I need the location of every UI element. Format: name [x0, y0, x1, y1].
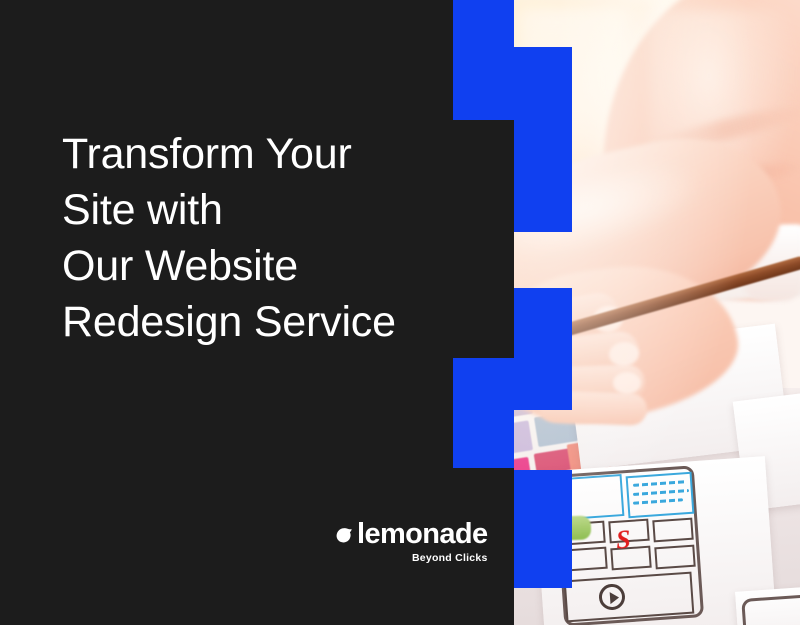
- headline: Transform Your Site with Our Website Red…: [62, 126, 462, 350]
- blue-block-mid-right: [514, 288, 572, 410]
- wireframe-thumb: [652, 518, 693, 543]
- blue-block-upper-left: [453, 0, 514, 120]
- wireframe-thumb: [566, 547, 607, 572]
- blue-block-mid-left: [453, 358, 514, 468]
- lemon-icon: [334, 524, 354, 549]
- wireframe-phone-outline-corner: [741, 593, 800, 625]
- promo-banner: s S: [0, 0, 800, 625]
- brand-logo[interactable]: lemonade Beyond Clicks: [334, 520, 488, 564]
- wireframe-video-block: [564, 572, 695, 623]
- logo-text-group: lemonade Beyond Clicks: [357, 520, 488, 564]
- logo-wordmark: lemonade: [357, 520, 488, 549]
- logo-tagline: Beyond Clicks: [412, 552, 488, 564]
- wireframe-thumb: [654, 545, 695, 570]
- blue-block-upper-right: [514, 47, 572, 232]
- headline-line-2: Site with: [62, 182, 462, 238]
- fingernail: [613, 372, 641, 394]
- headline-line-3: Our Website: [62, 238, 462, 294]
- headline-line-1: Transform Your: [62, 126, 462, 182]
- wireframe-image-block: [564, 474, 625, 520]
- blue-block-lower-right: [514, 470, 572, 588]
- headline-line-4: Redesign Service: [62, 294, 462, 350]
- red-annotation-main: S: [615, 524, 635, 551]
